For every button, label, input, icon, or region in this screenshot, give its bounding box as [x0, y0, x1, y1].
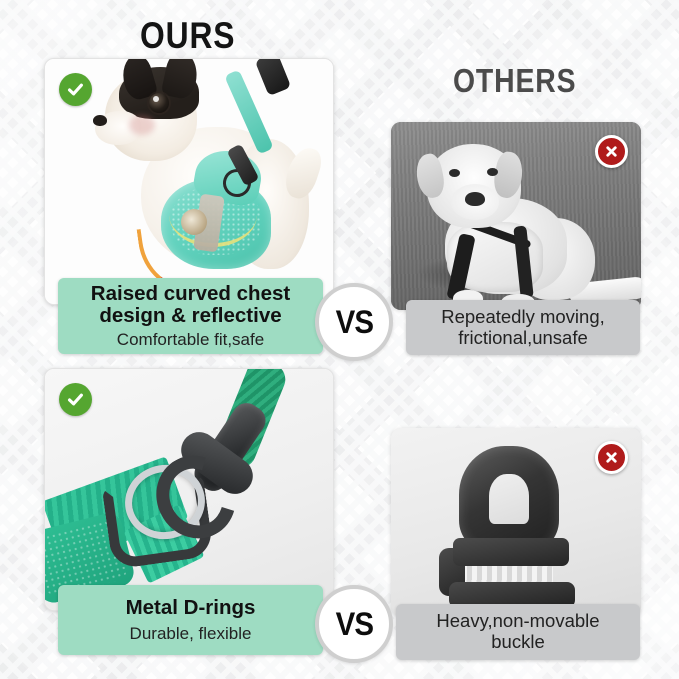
caption-ours-row1-title-line1: Raised curved chest	[91, 282, 290, 305]
caption-ours-row1-title-line2: design & reflective	[99, 304, 281, 327]
header-ours: OURS	[140, 15, 235, 57]
panel-ours-row1	[44, 58, 334, 305]
vs-badge-row2-label: VS	[335, 606, 372, 643]
caption-ours-row1-subtitle: Comfortable fit,safe	[117, 330, 264, 350]
caption-others-row1-line2: frictional,unsafe	[458, 327, 588, 348]
caption-others-row2-line2: buckle	[491, 631, 544, 652]
cross-icon	[595, 441, 628, 474]
caption-ours-row1: Raised curved chest design & reflective …	[58, 278, 323, 354]
check-icon	[59, 73, 92, 106]
caption-others-row1: Repeatedly moving, frictional,unsafe	[406, 300, 640, 355]
vs-badge-row2: VS	[315, 585, 393, 663]
caption-ours-row2: Metal D-rings Durable, flexible	[58, 585, 323, 655]
panel-others-row1	[391, 122, 641, 310]
caption-ours-row2-subtitle: Durable, flexible	[130, 624, 252, 644]
caption-ours-row2-title: Metal D-rings	[126, 597, 256, 619]
check-icon	[59, 383, 92, 416]
caption-others-row2: Heavy,non-movable buckle	[396, 604, 640, 660]
caption-others-row2-line1: Heavy,non-movable	[436, 610, 599, 631]
panel-ours-row2	[44, 368, 334, 611]
caption-others-row1-line1: Repeatedly moving,	[441, 306, 605, 327]
panel-others-row2	[391, 428, 641, 616]
vs-badge-row1-label: VS	[335, 304, 372, 341]
cross-icon	[595, 135, 628, 168]
vs-badge-row1: VS	[315, 283, 393, 361]
header-others: OTHERS	[453, 62, 576, 100]
